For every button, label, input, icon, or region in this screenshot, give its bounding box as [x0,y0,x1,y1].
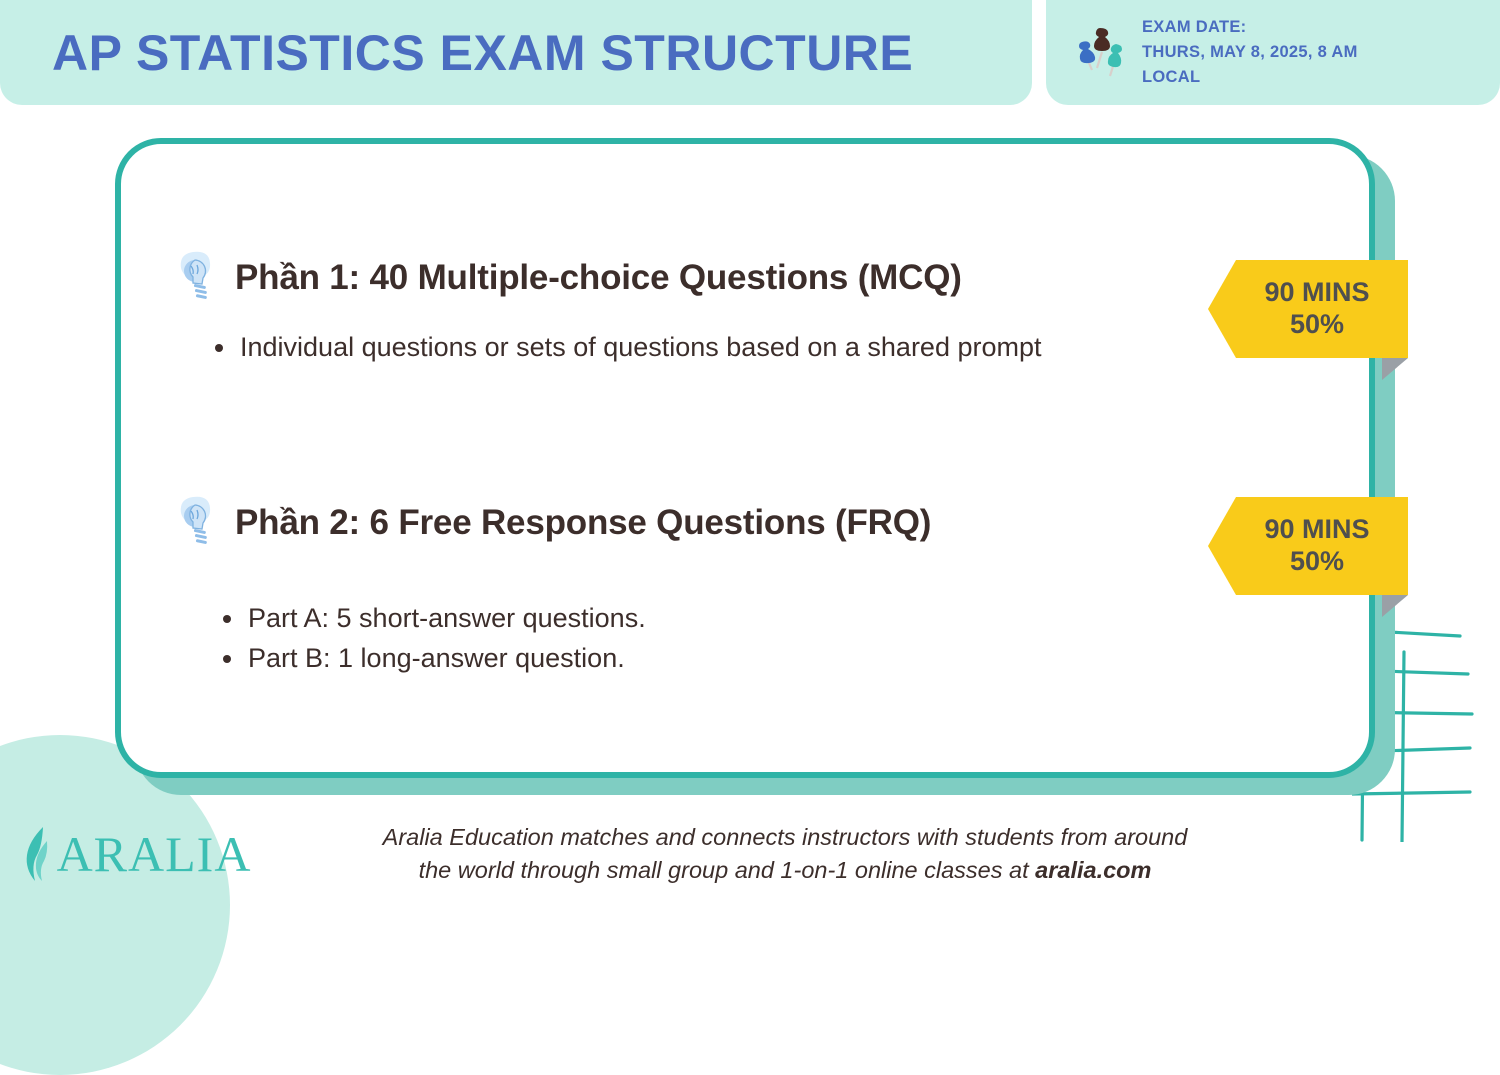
duration-badge-part-1: 90 MINS 50% [1208,260,1408,358]
section-part-2: Phần 2: 6 Free Response Questions (FRQ) … [175,495,931,679]
section-1-heading: Phần 1: 40 Multiple-choice Questions (MC… [175,250,1042,306]
list-item: Individual questions or sets of question… [215,328,1042,368]
lightbulb-icon [175,250,221,306]
section-part-1: Phần 1: 40 Multiple-choice Questions (MC… [175,250,1042,368]
aralia-website: aralia.com [1035,857,1151,883]
footer-tagline: Aralia Education matches and connects in… [250,821,1500,886]
duration-badge-part-2: 90 MINS 50% [1208,497,1408,595]
title-panel: AP STATISTICS EXAM STRUCTURE [0,0,1032,105]
tagline-line-2: the world through small group and 1-on-1… [250,854,1320,886]
exam-date-panel: EXAM DATE: THURS, MAY 8, 2025, 8 AM LOCA… [1046,0,1500,105]
header: AP STATISTICS EXAM STRUCTURE EXAM DATE: … [0,0,1500,105]
section-1-bullets: Individual questions or sets of question… [175,328,1042,368]
exam-date-text: EXAM DATE: THURS, MAY 8, 2025, 8 AM LOCA… [1142,15,1358,89]
main-content-card [115,138,1375,778]
exam-date-label: EXAM DATE: [1142,15,1358,40]
section-1-title: Phần 1: 40 Multiple-choice Questions (MC… [235,258,962,298]
page-title: AP STATISTICS EXAM STRUCTURE [52,28,913,78]
footer: ARALIA Aralia Education matches and conn… [0,821,1500,886]
exam-date-value: THURS, MAY 8, 2025, 8 AM [1142,40,1358,65]
pushpins-icon [1070,22,1126,84]
lightbulb-icon [175,495,221,551]
section-2-heading: Phần 2: 6 Free Response Questions (FRQ) [175,495,931,551]
badge-weight: 50% [1290,309,1344,341]
badge-weight: 50% [1290,546,1344,578]
section-2-title: Phần 2: 6 Free Response Questions (FRQ) [235,503,931,543]
exam-date-timezone: LOCAL [1142,65,1358,90]
aralia-logo: ARALIA [0,823,250,885]
list-item: Part B: 1 long-answer question. [223,639,931,679]
tagline-line-1: Aralia Education matches and connects in… [250,821,1320,853]
list-item: Part A: 5 short-answer questions. [223,599,931,639]
aralia-logo-text: ARALIA [57,825,252,883]
section-2-bullets: Part A: 5 short-answer questions. Part B… [175,599,931,679]
badge-duration: 90 MINS [1264,277,1369,309]
badge-duration: 90 MINS [1264,514,1369,546]
tagline-line-2-prefix: the world through small group and 1-on-1… [419,857,1036,883]
aralia-flame-icon [17,823,61,885]
